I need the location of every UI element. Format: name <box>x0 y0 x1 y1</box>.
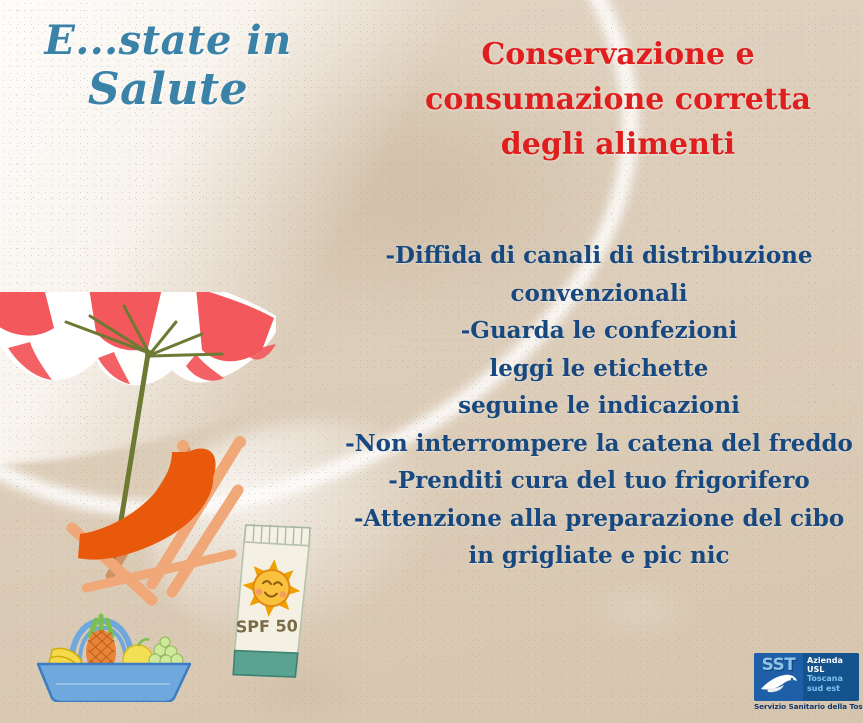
sst-line-sudest: sud est <box>807 684 857 693</box>
advice-line-6: -Non interrompere la catena del freddo <box>338 425 860 463</box>
advice-list: -Diffida di canali di distribuzione conv… <box>338 237 860 575</box>
fruit-basket-icon <box>38 616 190 702</box>
headline-line-1: Conservazione e <box>383 32 853 77</box>
campaign-logo-line2: Salute <box>18 66 318 114</box>
deck-chair-icon <box>72 436 246 600</box>
advice-line-7: -Prenditi cura del tuo frigorifero <box>338 462 860 500</box>
advice-line-1: -Diffida di canali di distribuzione <box>338 237 860 275</box>
sst-line-azienda: Azienda <box>807 656 857 665</box>
seagull-icon <box>758 670 800 696</box>
poster-canvas: E...state in Salute Conservazione e cons… <box>0 0 863 723</box>
sunscreen-tube-icon: SPF 50 <box>230 521 311 681</box>
beach-illustration: SPF 50 <box>0 292 330 702</box>
campaign-logo-line1: E...state in <box>18 18 318 64</box>
advice-line-9: in grigliate e pic nic <box>338 537 860 575</box>
sst-logo-left: SST <box>754 653 803 701</box>
advice-line-5: seguine le indicazioni <box>338 387 860 425</box>
headline-line-3: degli alimenti <box>383 122 853 167</box>
sst-line-toscana: Toscana <box>807 674 857 683</box>
sst-tagline: Servizio Sanitario della Toscana <box>754 702 859 711</box>
campaign-logo: E...state in Salute <box>18 18 318 114</box>
sst-line-usl: USL <box>807 665 857 674</box>
advice-line-3: -Guarda le confezioni <box>338 312 860 350</box>
headline-line-2: consumazione corretta <box>383 77 853 122</box>
sunscreen-label: SPF 50 <box>236 616 298 636</box>
advice-line-2: convenzionali <box>338 275 860 313</box>
advice-line-8: -Attenzione alla preparazione del cibo <box>338 500 860 538</box>
poster-headline: Conservazione e consumazione corretta de… <box>383 32 853 167</box>
sst-logo-box: SST Azienda USL Toscana sud est <box>754 653 859 701</box>
sst-logo-right: Azienda USL Toscana sud est <box>803 653 859 701</box>
sst-logo: SST Azienda USL Toscana sud est Servizio… <box>754 653 859 717</box>
advice-line-4: leggi le etichette <box>338 350 860 388</box>
